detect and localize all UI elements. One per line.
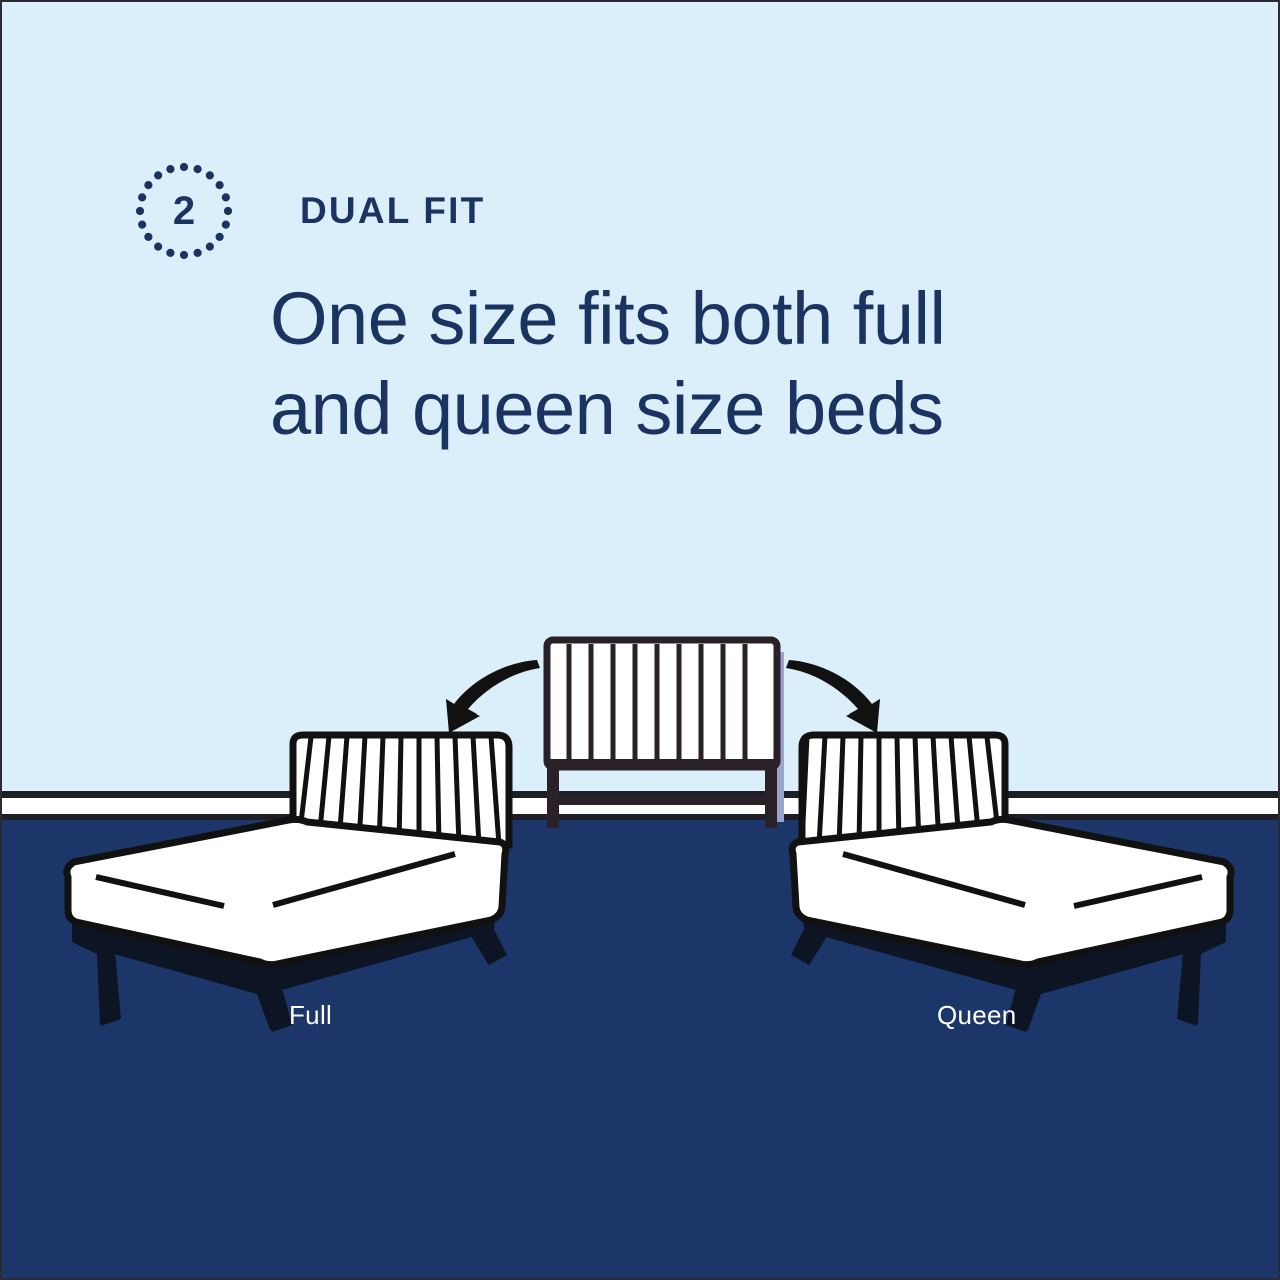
bed-queen-leg-1 (1177, 952, 1200, 1026)
eyebrow-label: DUAL FIT (300, 190, 485, 232)
headboard-rail (547, 796, 777, 805)
bed-full (67, 735, 509, 1032)
illustration-card: Full Queen 2 DUAL FIT One size fits both… (0, 0, 1280, 1280)
step-number: 2 (173, 191, 195, 231)
arrow-right-icon (786, 660, 880, 733)
headline-line-2: and queen size beds (270, 364, 1090, 454)
step-header: 2 DUAL FIT (130, 157, 485, 265)
page-title: One size fits both full and queen size b… (270, 274, 1090, 455)
arrow-left-icon (446, 660, 540, 733)
center-headboard (547, 640, 784, 828)
bed-label-full: Full (289, 1000, 332, 1031)
headboard-bottom-edge (547, 759, 777, 767)
bed-full-leg-1 (98, 952, 121, 1026)
bed-label-queen: Queen (937, 1000, 1017, 1031)
bed-queen (791, 735, 1231, 1032)
headline-line-1: One size fits both full (270, 274, 1090, 364)
step-badge: 2 (130, 157, 238, 265)
bed-full-leg-2 (258, 991, 292, 1032)
